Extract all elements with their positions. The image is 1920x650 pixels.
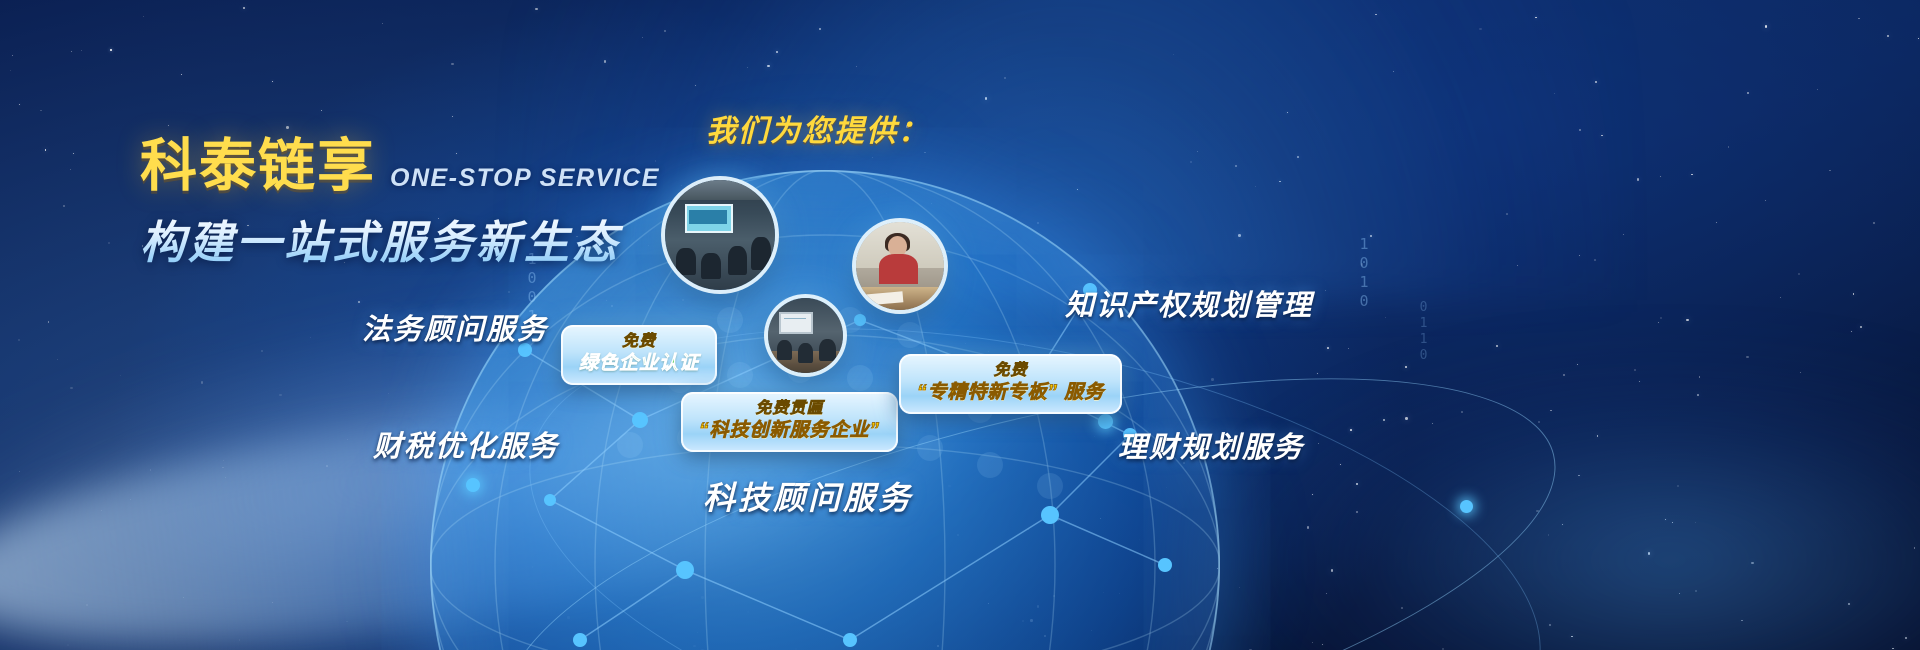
- binary-strip-right-2: 0110: [1415, 300, 1432, 364]
- node-dot-right: [1098, 414, 1113, 429]
- node-dot-left: [466, 478, 480, 492]
- photo-bubble-classroom: [665, 180, 775, 290]
- photo-bubble-meeting: [768, 298, 843, 373]
- service-label-legal-advisory: 法务顾问服务: [362, 306, 548, 348]
- badge-line-1: 免费: [917, 361, 1104, 381]
- badge-green-enterprise-certification[interactable]: 免费 绿色企业认证: [561, 325, 717, 385]
- hero-banner: 1001 1010 0110 科泰链享 ONE-STOP SERVICE 构建一…: [0, 0, 1920, 650]
- binary-strip-right: 1010: [1355, 235, 1372, 311]
- badge-specialized-new-board-service[interactable]: 免费 “专精特新专板” 服务: [899, 354, 1122, 414]
- photo-bubble-office-worker: [856, 222, 944, 310]
- service-label-ip-planning-management: 知识产权规划管理: [1065, 282, 1313, 324]
- service-label-technology-consulting: 科技顾问服务: [703, 473, 913, 519]
- page-title: 科泰链享: [140, 120, 376, 202]
- service-label-finance-tax-optimization: 财税优化服务: [373, 423, 559, 465]
- badge-line-1: 免费贯匾: [699, 399, 880, 419]
- badge-line-1: 免费: [579, 332, 699, 352]
- service-label-wealth-planning: 理财规划服务: [1118, 424, 1304, 466]
- badge-tech-innovation-service-enterprise[interactable]: 免费贯匾 “科技创新服务企业”: [681, 392, 898, 452]
- english-tagline: ONE-STOP SERVICE: [390, 164, 660, 202]
- section-heading: 我们为您提供：: [706, 106, 930, 150]
- badge-line-2: 绿色企业认证: [579, 352, 699, 376]
- badge-line-2: “科技创新服务企业”: [699, 419, 880, 443]
- node-dot-far-right: [1460, 500, 1473, 513]
- badge-line-2: “专精特新专板” 服务: [917, 381, 1104, 405]
